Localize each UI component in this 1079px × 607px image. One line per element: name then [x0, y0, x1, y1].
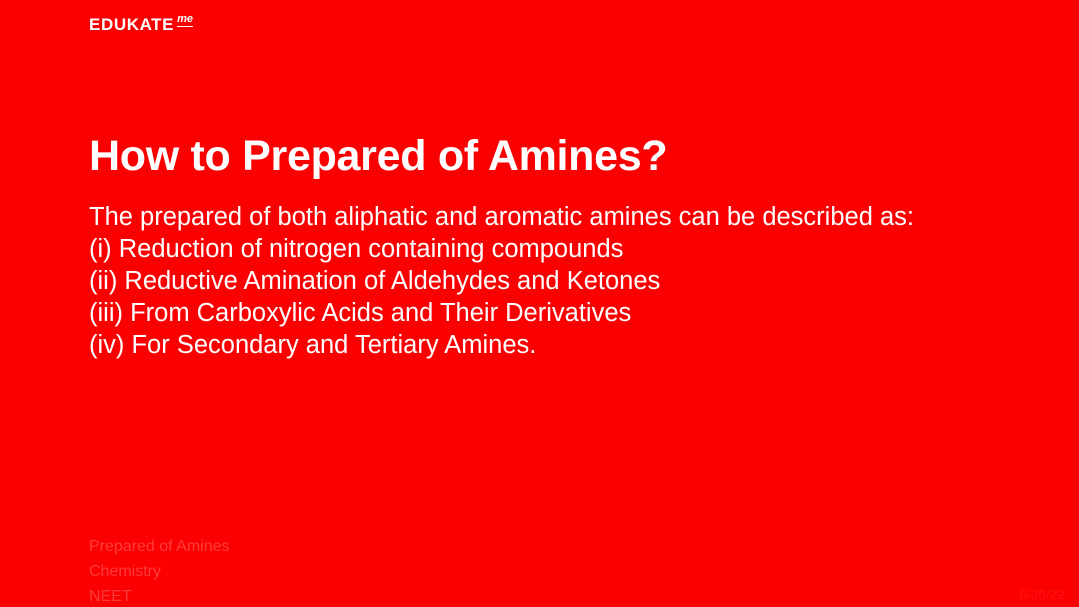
footer-topic: Prepared of Amines	[89, 534, 230, 559]
slide-footer: Prepared of Amines Chemistry NEET	[89, 534, 230, 607]
footer-exam: NEET	[89, 584, 230, 607]
logo-wordmark: EDUKATE	[89, 16, 174, 33]
footer-date-stamp: 6/30/22	[1020, 587, 1065, 602]
body-list-item-1: (i) Reduction of nitrogen containing com…	[89, 233, 979, 265]
body-list-item-4: (iv) For Secondary and Tertiary Amines.	[89, 329, 979, 361]
slide-body: The prepared of both aliphatic and aroma…	[89, 201, 979, 361]
edukate-logo[interactable]: EDUKATE me	[89, 16, 193, 33]
logo-suffix: me	[177, 14, 193, 27]
slide-canvas: EDUKATE me How to Prepared of Amines? Th…	[0, 0, 1079, 607]
slide-title: How to Prepared of Amines?	[89, 132, 667, 180]
body-list-item-3: (iii) From Carboxylic Acids and Their De…	[89, 297, 979, 329]
body-list-item-2: (ii) Reductive Amination of Aldehydes an…	[89, 265, 979, 297]
footer-subject: Chemistry	[89, 559, 230, 584]
body-intro-text: The prepared of both aliphatic and aroma…	[89, 201, 969, 233]
